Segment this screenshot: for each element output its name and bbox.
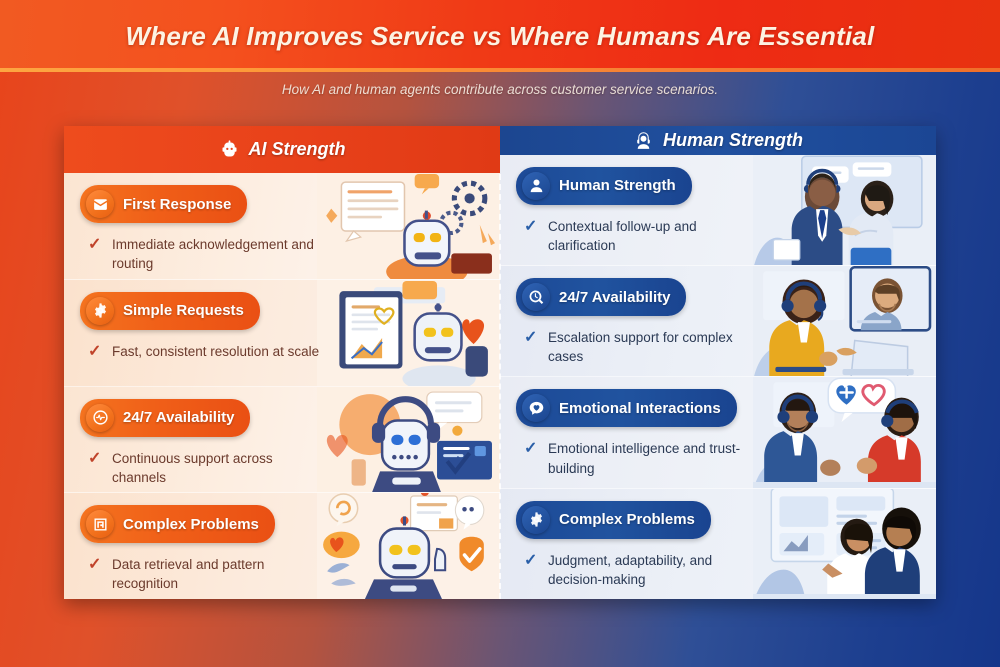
description-text: Continuous support across channels <box>112 449 324 487</box>
pill-ai-complex-problems[interactable]: Complex Problems <box>80 505 275 543</box>
description-text: Emotional intelligence and trust-buildin… <box>548 439 760 477</box>
page-subtitle: How AI and human agents contribute acros… <box>0 82 1000 97</box>
description-text: Judgment, adaptability, and decision-mak… <box>548 551 760 589</box>
pill-label: 24/7 Availability <box>123 409 234 426</box>
row-description: ✓ Continuous support across channels <box>80 449 324 487</box>
gear-icon <box>522 506 550 534</box>
illustration-robot-shield-chat <box>317 493 500 599</box>
column-header-human: Human Strength <box>500 126 936 155</box>
column-divider <box>499 174 501 599</box>
check-icon: ✓ <box>524 328 538 366</box>
column-header-ai: AI Strength <box>64 126 500 173</box>
check-icon: ✓ <box>524 439 538 477</box>
row-content: Human Strength ✓ Contextual follow-up an… <box>500 155 766 265</box>
row-content: Complex Problems ✓ Data retrieval and pa… <box>64 493 330 599</box>
illustration-robot-headset-laptop <box>317 387 500 493</box>
pill-label: 24/7 Availability <box>559 289 670 306</box>
description-text: Fast, consistent resolution at scale <box>112 342 319 362</box>
row-content: Complex Problems ✓ Judgment, adaptabilit… <box>500 489 766 599</box>
pill-human-complex-problems[interactable]: Complex Problems <box>516 501 711 539</box>
row-description: ✓ Fast, consistent resolution at scale <box>80 342 324 362</box>
check-icon: ✓ <box>88 449 102 487</box>
row-description: ✓ Immediate acknowledgement and routing <box>80 235 324 273</box>
check-icon: ✓ <box>88 342 102 362</box>
pill-human-strength[interactable]: Human Strength <box>516 167 692 205</box>
envelope-icon <box>86 190 114 218</box>
pill-label: Complex Problems <box>123 516 259 533</box>
illustration-agent-video-call <box>753 266 936 376</box>
pill-label: First Response <box>123 196 231 213</box>
pill-label: Complex Problems <box>559 511 695 528</box>
rows-ai: First Response ✓ Immediate acknowledgeme… <box>64 173 500 599</box>
illustration-two-agents-talking <box>753 155 936 265</box>
illustration-robot-chart-clipboard <box>317 280 500 386</box>
title-band: Where AI Improves Service vs Where Human… <box>0 0 1000 72</box>
column-header-human-label: Human Strength <box>663 130 803 151</box>
pill-ai-simple-requests[interactable]: Simple Requests <box>80 292 260 330</box>
check-icon: ✓ <box>524 217 538 255</box>
check-icon: ✓ <box>524 551 538 589</box>
row-human-complex-problems[interactable]: Complex Problems ✓ Judgment, adaptabilit… <box>500 489 936 599</box>
pill-ai-availability[interactable]: 24/7 Availability <box>80 399 250 437</box>
pill-human-emotional[interactable]: Emotional Interactions <box>516 389 737 427</box>
row-content: 24/7 Availability ✓ Escalation support f… <box>500 266 766 376</box>
row-content: First Response ✓ Immediate acknowledgeme… <box>64 173 330 279</box>
person-icon <box>522 172 550 200</box>
column-human-strength: Human Strength <box>500 126 936 599</box>
row-description: ✓ Emotional intelligence and trust-build… <box>516 439 760 477</box>
row-content: Simple Requests ✓ Fast, consistent resol… <box>64 280 330 386</box>
row-description: ✓ Escalation support for complex cases <box>516 328 760 366</box>
robot-icon <box>219 139 240 161</box>
pill-label: Human Strength <box>559 177 676 194</box>
illustration-robot-document-gears <box>317 173 500 279</box>
headset-person-icon <box>633 130 654 152</box>
pulse-clock-icon <box>86 404 114 432</box>
rows-human: Human Strength ✓ Contextual follow-up an… <box>500 155 936 599</box>
row-human-strength[interactable]: Human Strength ✓ Contextual follow-up an… <box>500 155 936 266</box>
description-text: Data retrieval and pattern recognition <box>112 555 324 593</box>
row-human-emotional[interactable]: Emotional Interactions ✓ Emotional intel… <box>500 377 936 488</box>
row-description: ✓ Judgment, adaptability, and decision-m… <box>516 551 760 589</box>
illustration-agents-hearts-chat <box>753 377 936 487</box>
row-content: 24/7 Availability ✓ Continuous support a… <box>64 387 330 493</box>
pill-ai-first-response[interactable]: First Response <box>80 185 247 223</box>
row-ai-simple-requests[interactable]: Simple Requests ✓ Fast, consistent resol… <box>64 280 500 387</box>
column-ai-strength: AI Strength <box>64 126 500 599</box>
pill-label: Emotional Interactions <box>559 400 721 417</box>
row-human-availability[interactable]: 24/7 Availability ✓ Escalation support f… <box>500 266 936 377</box>
check-icon: ✓ <box>88 235 102 273</box>
pill-label: Simple Requests <box>123 302 244 319</box>
pill-human-availability[interactable]: 24/7 Availability <box>516 278 686 316</box>
page-title: Where AI Improves Service vs Where Human… <box>126 21 875 52</box>
description-text: Immediate acknowledgement and routing <box>112 235 324 273</box>
row-description: ✓ Contextual follow-up and clarification <box>516 217 760 255</box>
gear-icon <box>86 297 114 325</box>
row-ai-availability[interactable]: 24/7 Availability ✓ Continuous support a… <box>64 387 500 494</box>
clock-search-icon <box>522 283 550 311</box>
maze-icon <box>86 510 114 538</box>
row-content: Emotional Interactions ✓ Emotional intel… <box>500 377 766 487</box>
row-ai-complex-problems[interactable]: Complex Problems ✓ Data retrieval and pa… <box>64 493 500 599</box>
heart-chat-icon <box>522 394 550 422</box>
illustration-team-dashboard-review <box>753 489 936 599</box>
description-text: Escalation support for complex cases <box>548 328 760 366</box>
row-ai-first-response[interactable]: First Response ✓ Immediate acknowledgeme… <box>64 173 500 280</box>
row-description: ✓ Data retrieval and pattern recognition <box>80 555 324 593</box>
comparison-board: AI Strength <box>64 126 936 599</box>
check-icon: ✓ <box>88 555 102 593</box>
column-header-ai-label: AI Strength <box>249 139 346 160</box>
description-text: Contextual follow-up and clarification <box>548 217 760 255</box>
